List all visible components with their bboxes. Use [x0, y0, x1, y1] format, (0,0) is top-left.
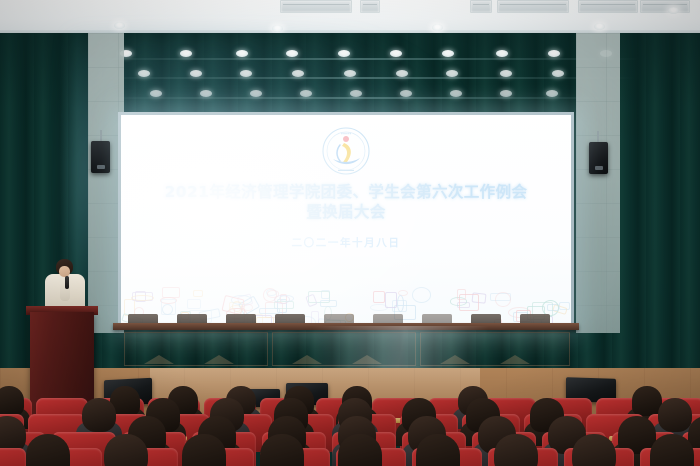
stage-light [300, 90, 312, 97]
decorative-icon [131, 295, 154, 301]
stage-light [442, 50, 454, 57]
slide-title-line2: 暨换届大会 [139, 202, 553, 222]
decorative-icon [320, 300, 337, 307]
projection-screen-frame: ●●●●● ▬▬▬▬ 2021年经济管理学院团委、学生会第六次工作例会 暨换届大… [118, 112, 574, 330]
stage-light [450, 90, 462, 97]
ceiling-vent [280, 0, 352, 13]
ceiling-vent [470, 0, 492, 13]
audience-member-head [572, 434, 616, 466]
stage-light [350, 90, 362, 97]
ceiling-vent [640, 0, 690, 13]
decorative-icon [495, 292, 511, 307]
audience-member-head [650, 434, 694, 466]
ceiling-vent [360, 0, 380, 13]
stage-light [292, 70, 304, 77]
left-wall-speaker [91, 141, 110, 173]
stage-light [240, 70, 252, 77]
stage-light [496, 50, 508, 57]
stage-light [396, 70, 408, 77]
audience-member-head [260, 434, 304, 466]
lighting-truss [95, 97, 625, 99]
presenter-face [59, 266, 70, 277]
red-theater-seat [0, 448, 26, 466]
audience-member-head [338, 434, 382, 466]
projected-slide: ●●●●● ▬▬▬▬ 2021年经济管理学院团委、学生会第六次工作例会 暨换届大… [121, 115, 571, 327]
decorative-icon [373, 291, 385, 303]
stage-light [286, 50, 298, 57]
audience-member-head [416, 434, 460, 466]
ceiling-downlight [272, 25, 283, 32]
decorative-icon [385, 292, 397, 308]
stage-light [138, 70, 150, 77]
decorative-icon [221, 295, 244, 315]
right-wall-speaker [589, 142, 608, 174]
audience-member-head [658, 398, 692, 432]
ceiling-downlight [432, 24, 443, 31]
slide-title: 2021年经济管理学院团委、学生会第六次工作例会 暨换届大会 [139, 182, 553, 222]
stage-light [400, 90, 412, 97]
stage-light [446, 70, 458, 77]
stage-light [546, 90, 558, 97]
ceiling-vent [497, 0, 569, 13]
tiled-side-wall-right [576, 33, 620, 333]
svg-text:▬▬▬▬: ▬▬▬▬ [338, 167, 354, 172]
stage-light [500, 90, 512, 97]
stage-light [236, 50, 248, 57]
stage-light [548, 50, 560, 57]
ceiling-downlight [594, 23, 605, 30]
audience-member-head [182, 434, 226, 466]
stage-light [390, 50, 402, 57]
decorative-icon [243, 304, 252, 312]
audience-member-head [0, 386, 24, 416]
audience-member-head [26, 434, 70, 466]
svg-text:●●●●●: ●●●●● [341, 132, 352, 136]
stage-light [190, 70, 202, 77]
stage-light [344, 70, 356, 77]
stage-light [500, 70, 512, 77]
ceiling-vent [578, 0, 638, 13]
audience-member-head [104, 434, 148, 466]
stage-light [250, 90, 262, 97]
stage-light [338, 50, 350, 57]
lighting-truss [90, 77, 635, 79]
stage-light [552, 70, 564, 77]
ceiling-downlight [114, 22, 125, 29]
lighting-truss [80, 58, 640, 60]
handheld-microphone [65, 276, 69, 289]
auditorium-scene: ●●●●● ▬▬▬▬ 2021年经济管理学院团委、学生会第六次工作例会 暨换届大… [0, 0, 700, 466]
college-emblem-logo: ●●●●● ▬▬▬▬ [321, 126, 371, 176]
decorative-icon [187, 299, 201, 309]
decorative-icon [193, 290, 203, 297]
decorative-icon [459, 294, 479, 311]
head-table [118, 326, 574, 370]
audience-member-head [494, 434, 538, 466]
decorative-icon [412, 287, 431, 303]
ceiling-downlight [668, 7, 679, 14]
stage-light [200, 90, 212, 97]
slide-title-line1: 2021年经济管理学院团委、学生会第六次工作例会 [139, 182, 553, 202]
stage-light [150, 90, 162, 97]
slide-date: 二〇二一年十月八日 [292, 235, 401, 250]
audience-member-head [82, 398, 116, 432]
stage-light [180, 50, 192, 57]
